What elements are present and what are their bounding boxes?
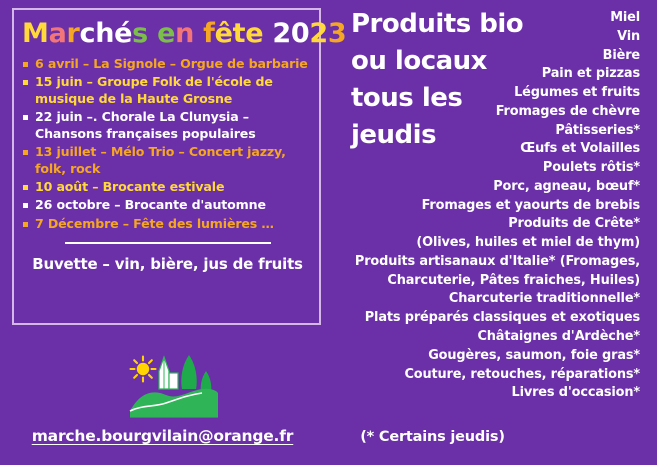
title-letter: a [49, 18, 67, 49]
title-letter [263, 18, 272, 49]
page-title: Marchés en fête 2023 [22, 18, 313, 49]
buvette-text: Buvette – vin, bière, jus de fruits [22, 255, 313, 273]
right-panel: Produits bio ou locaux tous les jeudis M… [340, 0, 657, 465]
product-list-item: Pâtisseries* [340, 122, 640, 141]
title-letter: é [114, 18, 132, 49]
events-box: Marchés en fête 2023 6 avril – La Signol… [12, 8, 321, 325]
title-letter: f [203, 18, 214, 49]
title-letter: 2 [272, 18, 291, 49]
title-letter: c [80, 18, 96, 49]
title-letter: t [233, 18, 246, 49]
product-list-item: Gougères, saumon, foie gras* [340, 347, 640, 366]
product-list-item: (Olives, huiles et miel de thym) [340, 234, 640, 253]
title-letter: e [157, 18, 175, 49]
title-letter: h [95, 18, 114, 49]
product-list-item: Plats préparés classiques et exotiques [340, 309, 640, 328]
hills-shape [130, 389, 218, 418]
product-list-item: Produits artisanaux d'Italie* (Fromages, [340, 253, 640, 272]
product-list-item: Miel [340, 9, 640, 28]
event-list-item: 10 août – Brocante estivale [22, 179, 313, 196]
divider [65, 242, 271, 244]
title-letter: ê [215, 18, 233, 49]
product-list-item: Vin [340, 28, 640, 47]
event-list-item: 15 juin – Groupe Folk de l'école de musi… [22, 74, 313, 107]
title-letter [194, 18, 203, 49]
product-list-item: Fromages et yaourts de brebis [340, 197, 640, 216]
title-letter: r [67, 18, 80, 49]
title-letter: e [245, 18, 263, 49]
event-list-item: 22 juin –. Chorale La Clunysia – Chanson… [22, 109, 313, 142]
email-link[interactable]: marche.bourgvilain@orange.fr [0, 427, 325, 445]
product-list-item: Pain et pizzas [340, 65, 640, 84]
event-list: 6 avril – La Signole – Orgue de barbarie… [22, 56, 313, 232]
product-list-item: Œufs et Volailles [340, 140, 640, 159]
church-icon [159, 357, 178, 389]
products-list: MielVinBièrePain et pizzasLégumes et fru… [340, 9, 640, 403]
event-list-item: 13 juillet – Mélo Trio – Concert jazzy, … [22, 144, 313, 177]
product-list-item: Porc, agneau, bœuf* [340, 178, 640, 197]
title-letter: 0 [291, 18, 310, 49]
tree-icon-tall [181, 355, 196, 389]
product-list-item: Charcuterie traditionnelle* [340, 290, 640, 309]
product-list-item: Bière [340, 47, 640, 66]
title-letter: M [22, 18, 49, 49]
left-panel: Marchés en fête 2023 6 avril – La Signol… [0, 0, 340, 465]
product-list-item: Livres d'occasion* [340, 384, 640, 403]
product-list-item: Produits de Crête* [340, 215, 640, 234]
title-letter [148, 18, 157, 49]
village-landscape-logo [126, 349, 222, 425]
title-letter: s [132, 18, 148, 49]
sun-icon [131, 357, 156, 382]
footnote: (* Certains jeudis) [340, 429, 525, 445]
product-list-item: Châtaignes d'Ardèche* [340, 328, 640, 347]
product-list-item: Légumes et fruits [340, 84, 640, 103]
title-letter: n [175, 18, 194, 49]
event-list-item: 6 avril – La Signole – Orgue de barbarie [22, 56, 313, 73]
product-list-item: Poulets rôtis* [340, 159, 640, 178]
event-list-item: 7 Décembre – Fête des lumières … [22, 216, 313, 233]
product-list-item: Fromages de chèvre [340, 103, 640, 122]
product-list-item: Charcuterie, Pâtes fraiches, Huiles) [340, 272, 640, 291]
title-letter: 2 [309, 18, 328, 49]
product-list-item: Couture, retouches, réparations* [340, 366, 640, 385]
event-list-item: 26 octobre – Brocante d'automne [22, 197, 313, 214]
